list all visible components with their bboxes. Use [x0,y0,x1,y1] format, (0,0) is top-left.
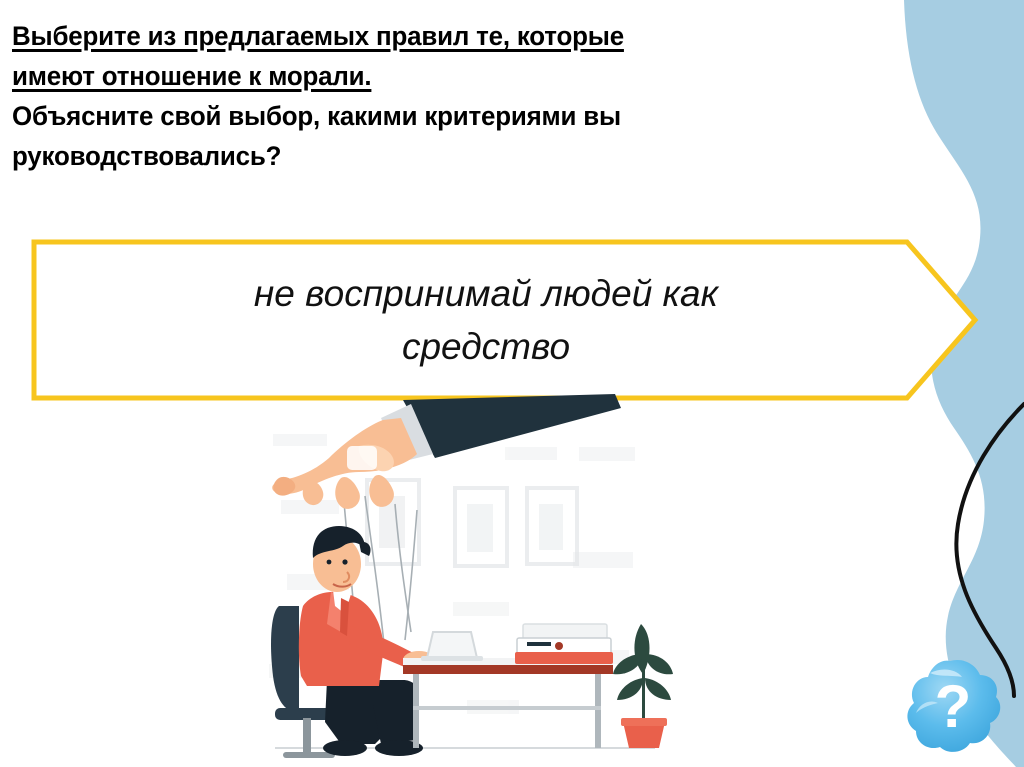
question-mark-glyph: ? [935,673,972,740]
arrow-banner-text: не воспринимай людей как средство [91,264,881,376]
banner-line-2: средство [402,320,570,373]
heading-line-4: руководствовались? [12,136,838,176]
slide-canvas: Выберите из предлагаемых правил те, кото… [0,0,1024,767]
heading-line-1: Выберите из предлагаемых правил те, кото… [12,16,838,56]
desk-top [403,664,613,674]
shoe-back [323,740,367,756]
page-title: Выберите из предлагаемых правил те, кото… [12,16,872,176]
head [313,526,371,592]
laptop [421,632,483,661]
desk-leg-right [595,674,601,748]
printer-stack [515,624,613,664]
hand [272,418,417,509]
puppeteer-illustration [255,392,675,767]
question-mark-badge[interactable]: ? [900,655,1004,759]
desk-leg-left [413,674,419,748]
heading-line-3: Объясните свой выбор, какими критериями … [12,96,838,136]
potted-plant [613,624,673,748]
finger-3 [335,477,360,509]
banner-line-1: не воспринимай людей как [254,267,718,320]
heading-line-2: имеют отношение к морали. [12,56,838,96]
wall-picture-frames [367,480,577,566]
arrow-banner: не воспринимай людей как средство [31,236,979,404]
finger-2 [303,481,324,505]
cord-path [956,404,1024,696]
